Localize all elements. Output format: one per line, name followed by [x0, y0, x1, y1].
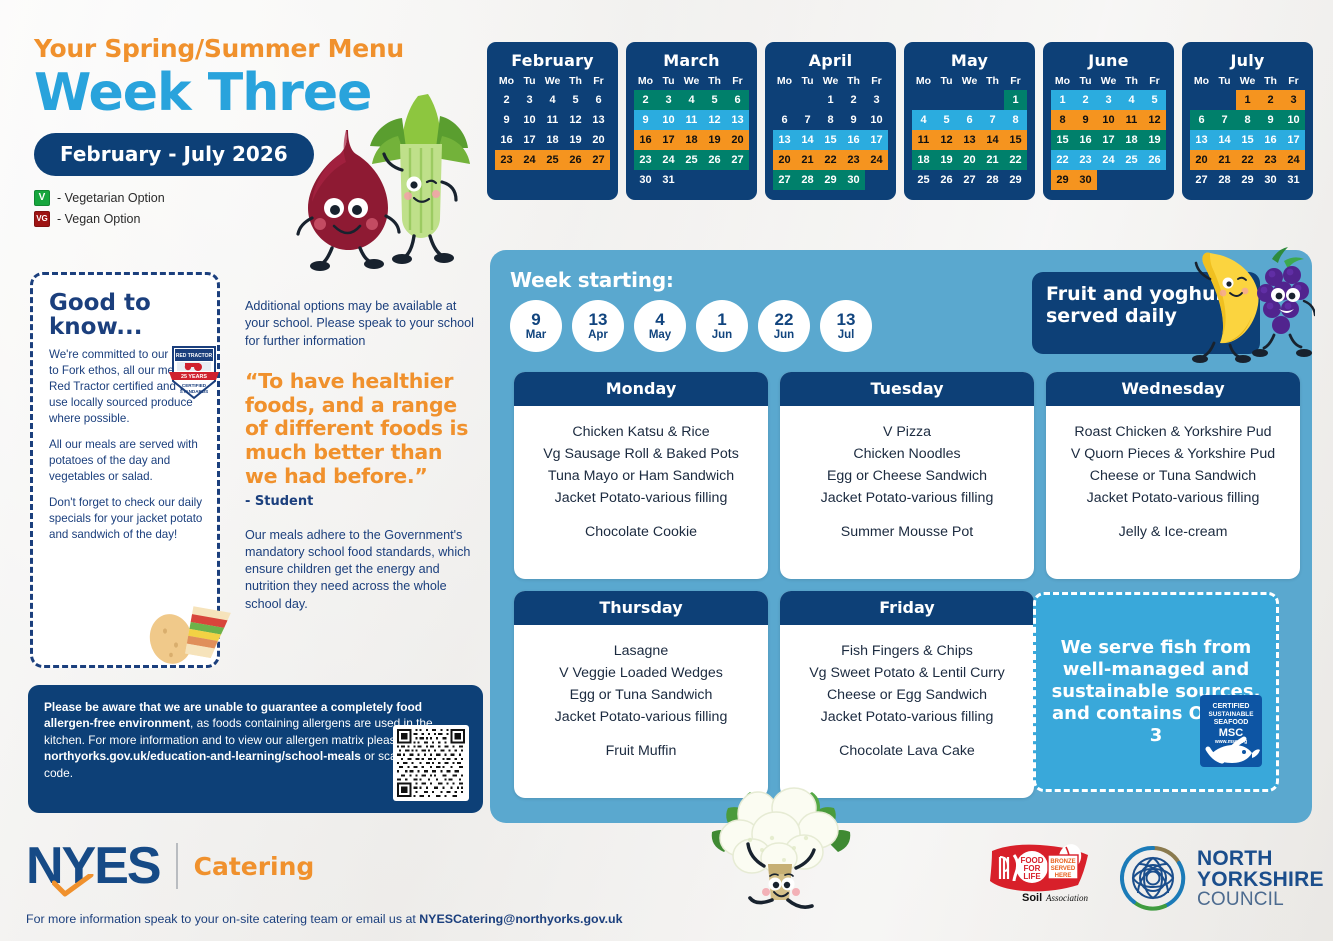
calendar-day-cell: 3 — [1097, 90, 1120, 110]
poster-page: Your Spring/Summer Menu Week Three Febru… — [0, 0, 1333, 941]
svg-text:RED TRACTOR: RED TRACTOR — [176, 353, 213, 359]
calendar-day-cell: 1 — [1236, 90, 1259, 110]
calendar-day-cell: 16 — [842, 130, 865, 150]
calendar-day-grid: 1234589101112151617181922232425262930 — [1051, 90, 1166, 190]
calendar-day-cell: 26 — [564, 150, 587, 170]
vegan-badge-icon: VG — [34, 211, 50, 227]
allergen-qr-code[interactable] — [393, 725, 469, 801]
menu-item: Egg or Tuna Sandwich — [522, 685, 760, 707]
calendar-day-cell: 2 — [495, 90, 518, 110]
week-start-month: Mar — [526, 330, 546, 342]
student-quote: “To have healthier foods, and a range of… — [245, 370, 480, 489]
day-card-body: LasagneV Veggie Loaded WedgesEgg or Tuna… — [514, 625, 768, 769]
calendar-day-cell: 8 — [819, 110, 842, 130]
calendar-day-cell: 14 — [981, 130, 1004, 150]
calendar-day-cell: 15 — [1236, 130, 1259, 150]
calendar-day-cell: 26 — [935, 170, 958, 190]
calendar-day-cell: 2 — [1259, 90, 1282, 110]
nyes-wordmark: NYES — [26, 840, 160, 892]
calendar-weekday: We — [1097, 75, 1120, 87]
svg-text:SEAFOOD: SEAFOOD — [1214, 719, 1249, 726]
calendar-empty-cell — [958, 90, 981, 110]
calendar-day-cell: 29 — [1051, 170, 1074, 190]
calendar-day-cell: 16 — [634, 130, 657, 150]
calendar-day-cell: 25 — [680, 150, 703, 170]
menu-item: Jacket Potato-various filling — [788, 488, 1026, 510]
nyc-line-2: YORKSHIRE — [1197, 869, 1324, 890]
calendar-day-cell: 11 — [541, 110, 564, 130]
calendar-day-cell: 18 — [912, 150, 935, 170]
calendar-weekday: Mo — [1051, 75, 1074, 87]
cauliflower-mascot-icon — [706, 772, 856, 917]
north-yorkshire-council-logo: NORTH YORKSHIRE COUNCIL — [1120, 845, 1324, 911]
calendar-day-cell: 23 — [842, 150, 865, 170]
calendar-day-cell: 19 — [1143, 130, 1166, 150]
calendar-day-cell: 24 — [518, 150, 541, 170]
additional-options-text: Additional options may be available at y… — [245, 298, 480, 350]
calendar-weekday: Fr — [1143, 75, 1166, 87]
calendar-day-cell: 21 — [796, 150, 819, 170]
menu-item: Egg or Cheese Sandwich — [788, 466, 1026, 488]
calendar-day-cell: 2 — [634, 90, 657, 110]
calendar-day-cell: 16 — [1074, 130, 1097, 150]
calendar-weekday: Mo — [773, 75, 796, 87]
calendar-day-cell: 9 — [1074, 110, 1097, 130]
calendar-day-cell: 4 — [541, 90, 564, 110]
allergen-notice-box: Please be aware that we are unable to gu… — [28, 685, 483, 813]
calendar-day-cell: 29 — [1236, 170, 1259, 190]
menu-item: Tuna Mayo or Ham Sandwich — [522, 466, 760, 488]
calendar-weekday-header: MoTuWeThFr — [912, 75, 1027, 87]
calendar-day-cell: 31 — [657, 170, 680, 190]
calendar-day-cell: 10 — [1282, 110, 1305, 130]
calendar-weekday: Tu — [1074, 75, 1097, 87]
calendar-day-cell: 6 — [773, 110, 796, 130]
menu-item: V Veggie Loaded Wedges — [522, 663, 760, 685]
calendar-day-cell: 15 — [819, 130, 842, 150]
food-for-life-logo-icon: FOOD FOR LIFE BRONZE SERVED HERE Soil As… — [988, 841, 1098, 911]
good-to-know-paragraph: All our meals are served with potatoes o… — [49, 437, 203, 485]
calendar-day-cell: 16 — [1259, 130, 1282, 150]
calendar-day-cell: 1 — [1004, 90, 1027, 110]
svg-text:LIFE: LIFE — [1023, 872, 1041, 881]
week-start-month: Apr — [588, 330, 608, 342]
calendar-weekday: Th — [703, 75, 726, 87]
nyc-wordmark: NORTH YORKSHIRE COUNCIL — [1197, 848, 1324, 909]
calendar-day-cell: 18 — [541, 130, 564, 150]
calendar-day-cell: 2 — [1074, 90, 1097, 110]
week-start-date-circle[interactable]: 4May — [634, 300, 686, 352]
calendar-month-name: March — [634, 51, 749, 70]
calendar-day-cell: 9 — [1259, 110, 1282, 130]
svg-text:HERE: HERE — [1055, 873, 1072, 879]
day-card-body: Chicken Katsu & RiceVg Sausage Roll & Ba… — [514, 406, 768, 550]
calendar-day-cell: 7 — [981, 110, 1004, 130]
calendar-day-cell: 23 — [495, 150, 518, 170]
svg-text:BRONZE: BRONZE — [1050, 859, 1075, 865]
calendar-day-cell: 30 — [1259, 170, 1282, 190]
calendar-empty-cell — [1120, 170, 1143, 190]
calendar-day-cell: 26 — [1143, 150, 1166, 170]
calendar-weekday-header: MoTuWeThFr — [1051, 75, 1166, 87]
calendar-day-cell: 3 — [657, 90, 680, 110]
day-card-header: Monday — [514, 372, 768, 406]
calendar-weekday: Mo — [495, 75, 518, 87]
day-card-header: Friday — [780, 591, 1034, 625]
svg-text:CERTIFIED: CERTIFIED — [182, 383, 207, 388]
calendar-day-grid: 123678910131415161720212223242728293031 — [1190, 90, 1305, 190]
calendar-empty-cell — [726, 170, 749, 190]
calendar-day-cell: 14 — [1213, 130, 1236, 150]
calendar-day-grid: 145678111213141518192021222526272829 — [912, 90, 1027, 190]
footer-contact-note: For more information speak to your on-si… — [26, 912, 623, 926]
calendar-day-cell: 18 — [1120, 130, 1143, 150]
calendar-day-cell: 11 — [680, 110, 703, 130]
menu-dessert-item: Chocolate Lava Cake — [788, 743, 1026, 759]
calendar-day-cell: 6 — [726, 90, 749, 110]
banana-grape-mascot-icon — [1180, 243, 1315, 363]
calendar-day-cell: 27 — [773, 170, 796, 190]
calendar-month-name: June — [1051, 51, 1166, 70]
calendar-day-grid: 2345691011121316171819202324252627 — [495, 90, 610, 170]
good-to-know-box: Good to know... We're committed to our F… — [30, 272, 220, 668]
contact-email[interactable]: NYESCatering@northyorks.gov.uk — [419, 912, 622, 926]
calendar-day-cell: 10 — [518, 110, 541, 130]
allergen-url[interactable]: northyorks.gov.uk/education-and-learning… — [44, 749, 361, 763]
calendar-weekday: We — [680, 75, 703, 87]
calendar-day-cell: 19 — [935, 150, 958, 170]
calendar-weekday: Fr — [726, 75, 749, 87]
calendar-february: FebruaryMoTuWeThFr2345691011121316171819… — [487, 42, 618, 200]
calendar-weekday: Tu — [796, 75, 819, 87]
month-calendars: FebruaryMoTuWeThFr2345691011121316171819… — [487, 42, 1313, 200]
calendar-weekday: Tu — [935, 75, 958, 87]
calendar-weekday: Tu — [657, 75, 680, 87]
svg-text:MSC: MSC — [1219, 727, 1244, 739]
calendar-weekday: We — [541, 75, 564, 87]
calendar-empty-cell — [981, 90, 1004, 110]
calendar-weekday-header: MoTuWeThFr — [773, 75, 888, 87]
calendar-day-cell: 13 — [1190, 130, 1213, 150]
calendar-empty-cell — [1143, 170, 1166, 190]
day-card-header: Wednesday — [1046, 372, 1300, 406]
calendar-day-cell: 17 — [1097, 130, 1120, 150]
calendar-day-cell: 27 — [958, 170, 981, 190]
calendar-day-cell: 5 — [703, 90, 726, 110]
day-menu-card-monday: MondayChicken Katsu & RiceVg Sausage Rol… — [514, 372, 768, 579]
calendar-empty-cell — [773, 90, 796, 110]
calendar-day-cell: 10 — [657, 110, 680, 130]
menu-dessert-item: Fruit Muffin — [522, 743, 760, 759]
calendar-day-cell: 4 — [1120, 90, 1143, 110]
calendar-weekday: Fr — [1004, 75, 1027, 87]
calendar-july: JulyMoTuWeThFr12367891013141516172021222… — [1182, 42, 1313, 200]
week-start-day: 13 — [589, 311, 608, 328]
calendar-day-cell: 24 — [657, 150, 680, 170]
qr-code-icon — [397, 729, 465, 797]
calendar-day-cell: 3 — [518, 90, 541, 110]
calendar-day-cell: 30 — [842, 170, 865, 190]
calendar-day-grid: 1236789101314151617202122232427282930 — [773, 90, 888, 190]
calendar-empty-cell — [703, 170, 726, 190]
calendar-day-cell: 21 — [981, 150, 1004, 170]
svg-text:25 YEARS: 25 YEARS — [181, 374, 207, 380]
calendar-day-cell: 17 — [865, 130, 888, 150]
onion-celery-mascot-icon — [290, 78, 480, 273]
calendar-day-cell: 9 — [495, 110, 518, 130]
calendar-day-cell: 4 — [680, 90, 703, 110]
calendar-empty-cell — [680, 170, 703, 190]
menu-item: Lasagne — [522, 641, 760, 663]
calendar-day-cell: 25 — [912, 170, 935, 190]
calendar-day-cell: 7 — [1213, 110, 1236, 130]
quote-attribution: - Student — [245, 494, 480, 509]
calendar-weekday: Fr — [865, 75, 888, 87]
calendar-day-cell: 31 — [1282, 170, 1305, 190]
calendar-day-cell: 26 — [703, 150, 726, 170]
red-tractor-logo-icon: RED TRACTOR 25 YEARS CERTIFIED STANDARDS — [165, 341, 223, 401]
calendar-day-cell: 12 — [564, 110, 587, 130]
calendar-day-cell: 16 — [495, 130, 518, 150]
week-start-month: Jun — [774, 330, 794, 342]
calendar-weekday: Th — [842, 75, 865, 87]
calendar-weekday: Fr — [1282, 75, 1305, 87]
calendar-day-cell: 10 — [865, 110, 888, 130]
calendar-day-cell: 27 — [726, 150, 749, 170]
calendar-day-cell: 19 — [703, 130, 726, 150]
calendar-day-cell: 27 — [1190, 170, 1213, 190]
calendar-weekday: Mo — [634, 75, 657, 87]
logo-divider — [176, 843, 178, 889]
menu-item: Cheese or Egg Sandwich — [788, 685, 1026, 707]
calendar-weekday-header: MoTuWeThFr — [1190, 75, 1305, 87]
calendar-day-cell: 9 — [842, 110, 865, 130]
calendar-day-cell: 24 — [1282, 150, 1305, 170]
calendar-weekday: Th — [564, 75, 587, 87]
calendar-day-cell: 8 — [1051, 110, 1074, 130]
day-card-body: V PizzaChicken NoodlesEgg or Cheese Sand… — [780, 406, 1034, 550]
calendar-may: MayMoTuWeThFr145678111213141518192021222… — [904, 42, 1035, 200]
calendar-day-cell: 22 — [819, 150, 842, 170]
calendar-day-cell: 18 — [680, 130, 703, 150]
msc-certified-logo-icon: CERTIFIED SUSTAINABLE SEAFOOD MSC www.ms… — [1200, 695, 1262, 767]
calendar-day-cell: 6 — [1190, 110, 1213, 130]
calendar-day-cell: 1 — [1051, 90, 1074, 110]
calendar-day-cell: 5 — [564, 90, 587, 110]
calendar-day-cell: 25 — [541, 150, 564, 170]
menu-item: Fish Fingers & Chips — [788, 641, 1026, 663]
calendar-day-cell: 1 — [819, 90, 842, 110]
calendar-empty-cell — [912, 90, 935, 110]
calendar-month-name: May — [912, 51, 1027, 70]
legend-label: - Vegan Option — [57, 212, 140, 226]
day-card-header: Thursday — [514, 591, 768, 625]
calendar-weekday: Tu — [518, 75, 541, 87]
calendar-weekday: We — [1236, 75, 1259, 87]
week-start-date-circle[interactable]: 13Jul — [820, 300, 872, 352]
svg-text:CERTIFIED: CERTIFIED — [1213, 703, 1250, 710]
menu-item: Jacket Potato-various filling — [522, 707, 760, 729]
calendar-march: MarchMoTuWeThFr2345691011121316171819202… — [626, 42, 757, 200]
calendar-day-cell: 30 — [634, 170, 657, 190]
day-menu-card-wednesday: WednesdayRoast Chicken & Yorkshire PudV … — [1046, 372, 1300, 579]
day-card-body: Roast Chicken & Yorkshire PudV Quorn Pie… — [1046, 406, 1300, 550]
calendar-day-cell: 24 — [865, 150, 888, 170]
menu-item: Jacket Potato-various filling — [788, 707, 1026, 729]
calendar-empty-cell — [865, 170, 888, 190]
calendar-day-cell: 30 — [1074, 170, 1097, 190]
calendar-empty-cell — [796, 90, 819, 110]
menu-item: Roast Chicken & Yorkshire Pud — [1054, 422, 1292, 444]
calendar-day-cell: 28 — [1213, 170, 1236, 190]
day-menu-card-friday: FridayFish Fingers & ChipsVg Sweet Potat… — [780, 591, 1034, 798]
menu-season-subtitle: Your Spring/Summer Menu — [34, 34, 464, 63]
week-start-date-circle[interactable]: 9Mar — [510, 300, 562, 352]
calendar-day-cell: 10 — [1097, 110, 1120, 130]
week-start-date-circle[interactable]: 22Jun — [758, 300, 810, 352]
calendar-day-cell: 2 — [842, 90, 865, 110]
calendar-day-cell: 15 — [1051, 130, 1074, 150]
calendar-day-cell: 17 — [518, 130, 541, 150]
good-to-know-paragraph: Don't forget to check our daily specials… — [49, 495, 203, 543]
contact-text: For more information speak to your on-si… — [26, 912, 419, 926]
calendar-day-cell: 19 — [564, 130, 587, 150]
calendar-day-cell: 3 — [1282, 90, 1305, 110]
catering-text: Catering — [194, 852, 315, 881]
menu-item: Vg Sausage Roll & Baked Pots — [522, 444, 760, 466]
calendar-day-cell: 28 — [981, 170, 1004, 190]
calendar-day-cell: 23 — [634, 150, 657, 170]
calendar-day-cell: 28 — [796, 170, 819, 190]
calendar-day-cell: 9 — [634, 110, 657, 130]
menu-dessert-item: Jelly & Ice-cream — [1054, 524, 1292, 540]
calendar-day-cell: 20 — [958, 150, 981, 170]
svg-text:SERVED: SERVED — [1051, 866, 1076, 872]
nyc-line-3: COUNCIL — [1197, 890, 1324, 909]
nyes-catering-logo: NYES Catering — [26, 840, 314, 892]
calendar-weekday: Mo — [1190, 75, 1213, 87]
calendar-day-cell: 8 — [1004, 110, 1027, 130]
calendar-day-cell: 11 — [912, 130, 935, 150]
vegetarian-badge-icon: V — [34, 190, 50, 206]
day-menu-card-tuesday: TuesdayV PizzaChicken NoodlesEgg or Chee… — [780, 372, 1034, 579]
calendar-day-cell: 13 — [587, 110, 610, 130]
sustainable-fish-note: We serve fish from well-managed and sust… — [1033, 592, 1279, 792]
jacket-potato-sandwich-icon — [145, 591, 231, 667]
calendar-weekday: Mo — [912, 75, 935, 87]
calendar-empty-cell — [935, 90, 958, 110]
calendar-empty-cell — [1213, 90, 1236, 110]
calendar-day-cell: 13 — [726, 110, 749, 130]
calendar-month-name: February — [495, 51, 610, 70]
food-standards-text: Our meals adhere to the Government's man… — [245, 527, 480, 613]
calendar-day-cell: 17 — [657, 130, 680, 150]
menu-item: Vg Sweet Potato & Lentil Curry — [788, 663, 1026, 685]
calendar-day-cell: 12 — [935, 130, 958, 150]
menu-item: Chicken Katsu & Rice — [522, 422, 760, 444]
calendar-day-cell: 29 — [819, 170, 842, 190]
menu-item: Cheese or Tuna Sandwich — [1054, 466, 1292, 488]
calendar-day-cell: 12 — [1143, 110, 1166, 130]
calendar-day-cell: 5 — [935, 110, 958, 130]
middle-info-column: Additional options may be available at y… — [245, 298, 480, 613]
week-start-date-circle[interactable]: 1Jun — [696, 300, 748, 352]
calendar-day-cell: 20 — [1190, 150, 1213, 170]
calendar-weekday: We — [819, 75, 842, 87]
menu-item: Jacket Potato-various filling — [1054, 488, 1292, 510]
calendar-weekday: We — [958, 75, 981, 87]
menu-item: Jacket Potato-various filling — [522, 488, 760, 510]
calendar-day-cell: 7 — [796, 110, 819, 130]
calendar-day-cell: 29 — [1004, 170, 1027, 190]
calendar-weekday-header: MoTuWeThFr — [495, 75, 610, 87]
calendar-day-cell: 12 — [703, 110, 726, 130]
nyc-line-1: NORTH — [1197, 848, 1324, 869]
calendar-weekday: Th — [981, 75, 1004, 87]
menu-item: Chicken Noodles — [788, 444, 1026, 466]
legend-label: - Vegetarian Option — [57, 191, 165, 205]
calendar-month-name: April — [773, 51, 888, 70]
calendar-day-cell: 4 — [912, 110, 935, 130]
week-start-date-circle[interactable]: 13Apr — [572, 300, 624, 352]
calendar-empty-cell — [1190, 90, 1213, 110]
calendar-day-cell: 21 — [1213, 150, 1236, 170]
calendar-day-cell: 6 — [958, 110, 981, 130]
calendar-day-cell: 22 — [1051, 150, 1074, 170]
calendar-day-cell: 25 — [1120, 150, 1143, 170]
week-start-day: 9 — [531, 311, 540, 328]
svg-text:Soil: Soil — [1022, 892, 1042, 904]
calendar-day-cell: 3 — [865, 90, 888, 110]
calendar-month-name: July — [1190, 51, 1305, 70]
calendar-day-cell: 23 — [1074, 150, 1097, 170]
calendar-weekday: Th — [1259, 75, 1282, 87]
menu-dessert-item: Summer Mousse Pot — [788, 524, 1026, 540]
calendar-june: JuneMoTuWeThFr12345891011121516171819222… — [1043, 42, 1174, 200]
week-start-day: 22 — [775, 311, 794, 328]
week-start-day: 4 — [655, 311, 664, 328]
calendar-day-cell: 13 — [958, 130, 981, 150]
calendar-weekday: Fr — [587, 75, 610, 87]
calendar-april: AprilMoTuWeThFr1236789101314151617202122… — [765, 42, 896, 200]
week-start-day: 13 — [837, 311, 856, 328]
svg-text:STANDARDS: STANDARDS — [180, 389, 209, 394]
nyc-rose-icon — [1120, 845, 1186, 911]
calendar-empty-cell — [1097, 170, 1120, 190]
week-start-month: Jun — [712, 330, 732, 342]
week-start-month: May — [649, 330, 671, 342]
calendar-day-cell: 27 — [587, 150, 610, 170]
week-start-day: 1 — [717, 311, 726, 328]
calendar-day-cell: 15 — [1004, 130, 1027, 150]
calendar-day-cell: 23 — [1259, 150, 1282, 170]
calendar-day-cell: 14 — [796, 130, 819, 150]
good-to-know-title: Good to know... — [49, 291, 203, 339]
calendar-day-cell: 11 — [1120, 110, 1143, 130]
day-menu-card-thursday: ThursdayLasagneV Veggie Loaded WedgesEgg… — [514, 591, 768, 798]
calendar-day-cell: 5 — [1143, 90, 1166, 110]
calendar-weekday: Th — [1120, 75, 1143, 87]
calendar-day-cell: 13 — [773, 130, 796, 150]
calendar-day-grid: 23456910111213161718192023242526273031 — [634, 90, 749, 190]
calendar-day-cell: 24 — [1097, 150, 1120, 170]
week-start-month: Jul — [838, 330, 855, 342]
calendar-day-cell: 6 — [587, 90, 610, 110]
menu-item: V Quorn Pieces & Yorkshire Pud — [1054, 444, 1292, 466]
nyes-tick-icon — [52, 874, 94, 898]
day-card-body: Fish Fingers & ChipsVg Sweet Potato & Le… — [780, 625, 1034, 769]
calendar-day-cell: 8 — [1236, 110, 1259, 130]
